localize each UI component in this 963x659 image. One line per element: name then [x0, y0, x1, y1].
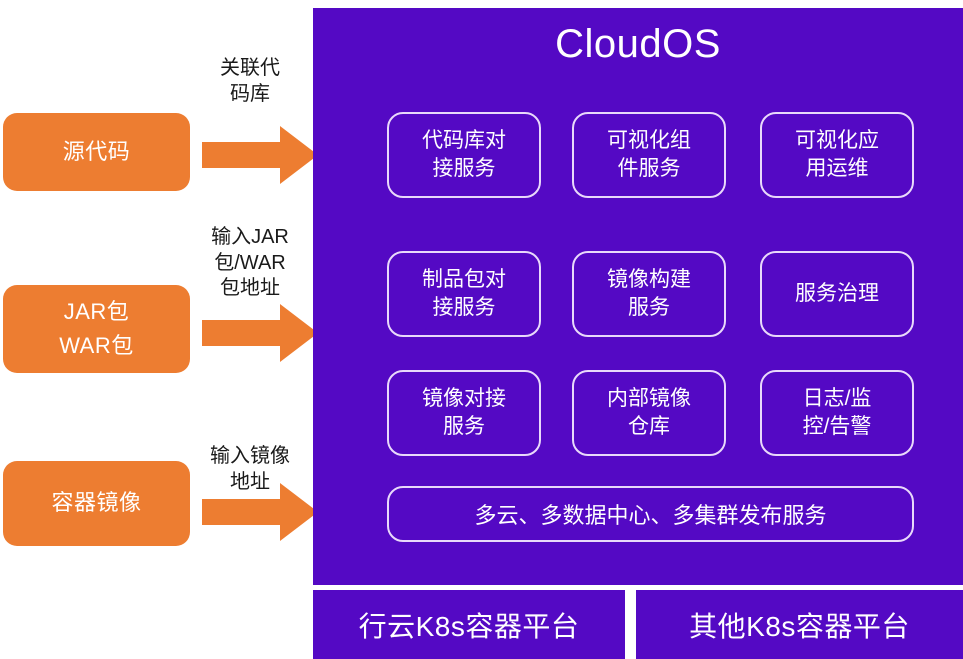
source-box-label-line1: JAR包: [64, 295, 130, 329]
cloudos-panel: CloudOS 代码库对 接服务 可视化组 件服务 可视化应 用运维 制品包对 …: [313, 8, 963, 585]
service-visual-component-service[interactable]: 可视化组 件服务: [572, 112, 726, 198]
source-box-jar-war[interactable]: JAR包 WAR包: [3, 285, 190, 373]
diagram-canvas: 源代码 JAR包 WAR包 容器镜像 关联代 码库 输入JAR 包/WAR 包地…: [0, 0, 963, 659]
arrow-container-image-icon: [202, 483, 318, 541]
service-service-governance[interactable]: 服务治理: [760, 251, 914, 337]
arrow-label-source-code: 关联代 码库: [190, 56, 310, 107]
service-visual-app-ops[interactable]: 可视化应 用运维: [760, 112, 914, 198]
source-box-label: 容器镜像: [51, 486, 141, 520]
service-image-build-service[interactable]: 镜像构建 服务: [572, 251, 726, 337]
service-log-monitor-alert[interactable]: 日志/监 控/告警: [760, 370, 914, 456]
source-box-label: 源代码: [63, 135, 131, 169]
platform-bar-other-k8s[interactable]: 其他K8s容器平台: [636, 590, 963, 659]
service-label: 制品包对 接服务: [422, 266, 506, 323]
source-box-container-image[interactable]: 容器镜像: [3, 461, 190, 546]
service-artifact-integration-service[interactable]: 制品包对 接服务: [387, 251, 541, 337]
service-repo-integration-service[interactable]: 代码库对 接服务: [387, 112, 541, 198]
service-internal-image-registry[interactable]: 内部镜像 仓库: [572, 370, 726, 456]
service-label: 可视化应 用运维: [795, 127, 879, 184]
service-label: 多云、多数据中心、多集群发布服务: [474, 498, 826, 530]
service-label: 日志/监 控/告警: [803, 385, 872, 442]
source-box-label-line2: WAR包: [59, 329, 134, 363]
platform-bar-label: 行云K8s容器平台: [359, 605, 580, 645]
source-box-source-code[interactable]: 源代码: [3, 113, 190, 191]
platform-bar-label: 其他K8s容器平台: [689, 605, 910, 645]
service-label: 内部镜像 仓库: [607, 385, 691, 442]
service-label: 可视化组 件服务: [607, 127, 691, 184]
arrow-label-jar-war: 输入JAR 包/WAR 包地址: [188, 225, 312, 302]
service-label: 镜像构建 服务: [607, 266, 691, 323]
arrow-source-code-icon: [202, 126, 318, 184]
platform-bar-xingyun-k8s[interactable]: 行云K8s容器平台: [313, 590, 625, 659]
cloudos-title: CloudOS: [313, 22, 963, 67]
service-label: 服务治理: [795, 280, 879, 308]
service-label: 代码库对 接服务: [422, 127, 506, 184]
service-label: 镜像对接 服务: [422, 385, 506, 442]
arrow-jar-war-icon: [202, 304, 318, 362]
service-image-integration-service[interactable]: 镜像对接 服务: [387, 370, 541, 456]
service-multi-cloud-release-service[interactable]: 多云、多数据中心、多集群发布服务: [387, 486, 914, 542]
